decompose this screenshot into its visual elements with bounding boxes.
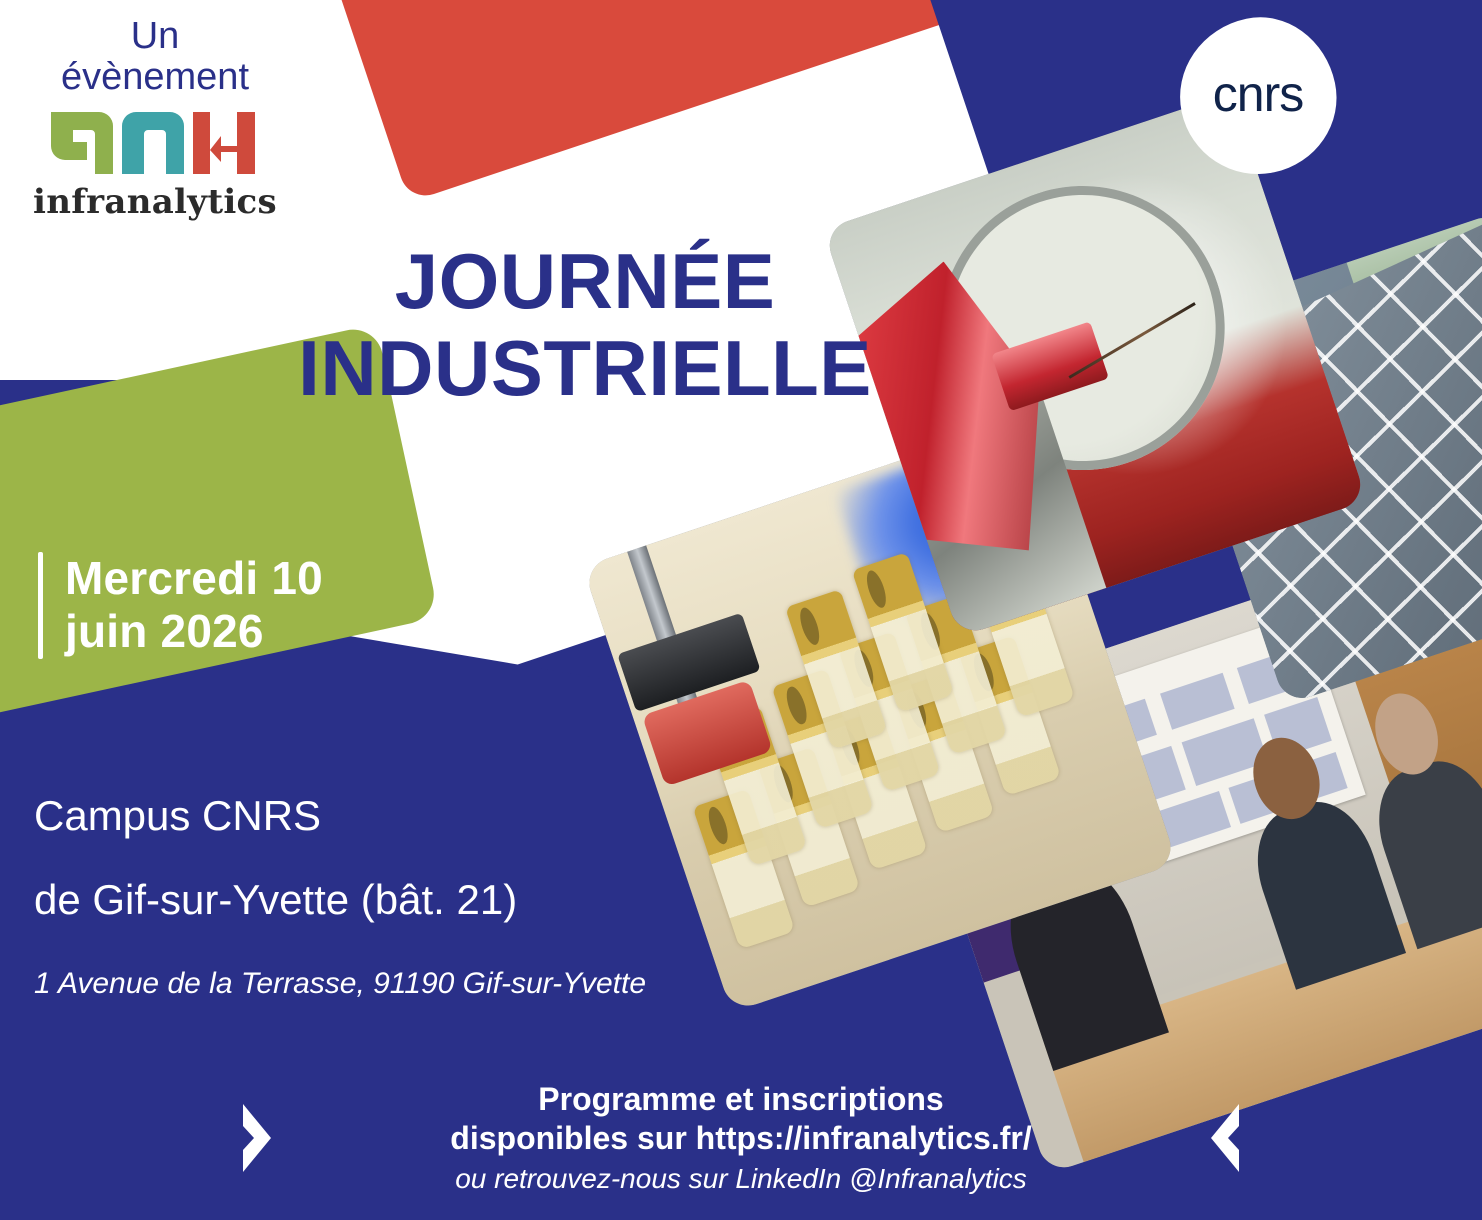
- event-date-line2: juin 2026: [65, 605, 323, 658]
- footer-line3[interactable]: ou retrouvez-nous sur LinkedIn @Infranal…: [361, 1162, 1121, 1196]
- logo-glyph-red-icon: [193, 112, 255, 174]
- page-title-line2: INDUSTRIELLE: [255, 325, 915, 412]
- page-title-line1: JOURNÉE: [395, 237, 776, 325]
- cnrs-logo-wordmark: cnrs: [1180, 18, 1336, 174]
- infranalytics-wordmark: infranalytics: [10, 182, 300, 222]
- organizer-kicker-line1: Un: [10, 16, 300, 57]
- event-venue: Campus CNRS de Gif-sur-Yvette (bât. 21) …: [34, 795, 646, 1001]
- logo-glyph-green-icon: [51, 112, 113, 174]
- venue-line2: de Gif-sur-Yvette (bât. 21): [34, 879, 646, 921]
- footer-cta: Programme et inscriptions disponibles su…: [0, 1080, 1482, 1196]
- cnrs-logo: cnrs: [1180, 18, 1336, 174]
- organizer-kicker-line2: évènement: [10, 57, 300, 98]
- venue-address: 1 Avenue de la Terrasse, 91190 Gif-sur-Y…: [34, 967, 646, 1001]
- page-title: JOURNÉE INDUSTRIELLE: [255, 238, 915, 413]
- infranalytics-logo-mark: [51, 112, 259, 174]
- venue-line1: Campus CNRS: [34, 795, 646, 837]
- logo-glyph-teal-icon: [122, 112, 184, 174]
- event-date: Mercredi 10 juin 2026: [38, 552, 323, 659]
- chevron-left-icon: [1205, 1100, 1245, 1176]
- event-date-line1: Mercredi 10: [65, 552, 323, 605]
- footer-line1: Programme et inscriptions: [361, 1080, 1121, 1119]
- date-accent-bar: [38, 552, 43, 659]
- chevron-right-icon: [237, 1100, 277, 1176]
- footer-line2[interactable]: disponibles sur https://infranalytics.fr…: [361, 1119, 1121, 1158]
- organizer-brand-block: Un évènement infranalytics: [10, 16, 300, 222]
- event-poster: cnrs Un évènement infranalytics JOURNÉE …: [0, 0, 1482, 1220]
